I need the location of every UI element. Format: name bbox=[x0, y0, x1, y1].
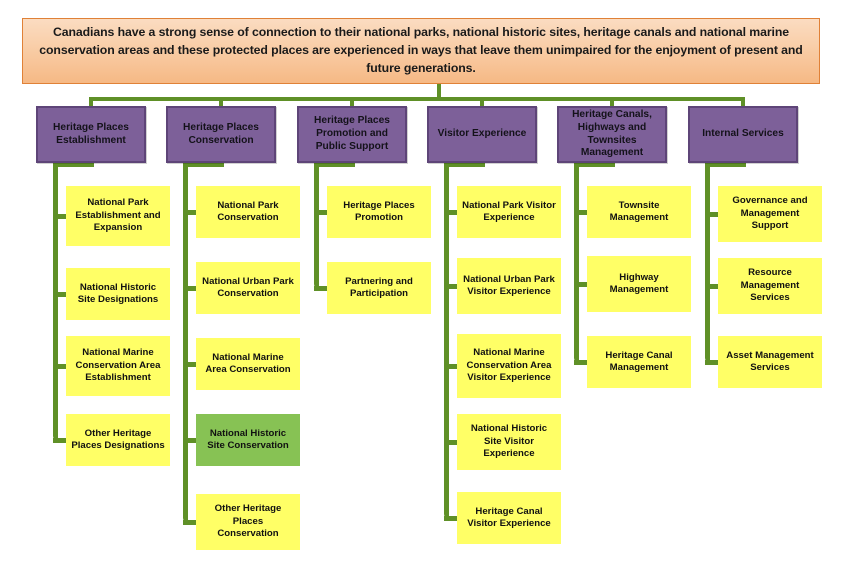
program-box-label: Heritage Places Promotion and Public Sup… bbox=[304, 115, 400, 153]
connector-stub-internal-services-2 bbox=[705, 360, 718, 365]
program-box-heritage-places-establishment[interactable]: Heritage Places Establishment bbox=[36, 106, 146, 163]
program-box-label: Heritage Canals, Highways and Townsites … bbox=[564, 109, 660, 160]
connector-stub-heritage-places-establishment-3 bbox=[53, 438, 66, 443]
connector-spine-head-heritage-places-promotion-and-public-support bbox=[314, 163, 355, 167]
connector-stub-visitor-experience-4 bbox=[444, 516, 457, 521]
connector-horizontal-bus bbox=[91, 97, 743, 101]
program-box-internal-services[interactable]: Internal Services bbox=[688, 106, 798, 163]
sub-activity-label: Heritage Canal Management bbox=[592, 350, 686, 375]
sub-activity-box[interactable]: Other Heritage Places Designations bbox=[66, 414, 170, 466]
sub-activity-label: Other Heritage Places Conservation bbox=[201, 503, 295, 540]
connector-stub-heritage-places-establishment-2 bbox=[53, 364, 66, 369]
vision-statement-banner: Canadians have a strong sense of connect… bbox=[22, 18, 820, 84]
sub-activity-label: Partnering and Participation bbox=[332, 276, 426, 301]
program-box-visitor-experience[interactable]: Visitor Experience bbox=[427, 106, 537, 163]
connector-stub-internal-services-0 bbox=[705, 212, 718, 217]
sub-activity-label: Highway Management bbox=[592, 272, 686, 297]
sub-activity-box[interactable]: Other Heritage Places Conservation bbox=[196, 494, 300, 550]
connector-bus-to-heritage-places-establishment bbox=[89, 97, 93, 106]
sub-activity-label: National Urban Park Conservation bbox=[201, 276, 295, 301]
sub-activity-box-highlighted[interactable]: National Historic Site Conservation bbox=[196, 414, 300, 466]
connector-stub-visitor-experience-3 bbox=[444, 440, 457, 445]
program-box-label: Visitor Experience bbox=[438, 128, 527, 141]
connector-spine-head-heritage-places-conservation bbox=[183, 163, 224, 167]
connector-spine-visitor-experience bbox=[444, 163, 449, 518]
sub-activity-box[interactable]: National Park Visitor Experience bbox=[457, 186, 561, 238]
connector-bus-to-visitor-experience bbox=[480, 97, 484, 106]
connector-spine-heritage-canals-highways-and-townsites-management bbox=[574, 163, 579, 362]
connector-bus-to-heritage-canals-highways-and-townsites-management bbox=[610, 97, 614, 106]
sub-activity-box[interactable]: National Park Establishment and Expansio… bbox=[66, 186, 170, 246]
sub-activity-label: Heritage Canal Visitor Experience bbox=[462, 506, 556, 531]
connector-spine-head-visitor-experience bbox=[444, 163, 485, 167]
connector-stub-heritage-places-conservation-3 bbox=[183, 438, 196, 443]
connector-spine-heritage-places-conservation bbox=[183, 163, 188, 522]
connector-spine-head-internal-services bbox=[705, 163, 746, 167]
connector-bus-to-heritage-places-promotion-and-public-support bbox=[350, 97, 354, 106]
connector-stub-visitor-experience-1 bbox=[444, 284, 457, 289]
sub-activity-box[interactable]: National Urban Park Visitor Experience bbox=[457, 258, 561, 314]
connector-stub-heritage-places-establishment-1 bbox=[53, 292, 66, 297]
connector-bus-to-heritage-places-conservation bbox=[219, 97, 223, 106]
connector-stub-heritage-places-promotion-and-public-support-1 bbox=[314, 286, 327, 291]
sub-activity-box[interactable]: Partnering and Participation bbox=[327, 262, 431, 314]
connector-stub-heritage-places-promotion-and-public-support-0 bbox=[314, 210, 327, 215]
sub-activity-box[interactable]: Governance and Management Support bbox=[718, 186, 822, 242]
sub-activity-label: Heritage Places Promotion bbox=[332, 200, 426, 225]
vision-statement-text: Canadians have a strong sense of connect… bbox=[37, 24, 805, 77]
sub-activity-label: Resource Management Services bbox=[723, 267, 817, 304]
sub-activity-label: National Historic Site Conservation bbox=[201, 428, 295, 453]
connector-stub-heritage-places-conservation-0 bbox=[183, 210, 196, 215]
sub-activity-label: Townsite Management bbox=[592, 200, 686, 225]
connector-stub-visitor-experience-0 bbox=[444, 210, 457, 215]
connector-stub-heritage-places-conservation-2 bbox=[183, 362, 196, 367]
sub-activity-label: National Park Establishment and Expansio… bbox=[71, 197, 165, 234]
program-box-heritage-places-conservation[interactable]: Heritage Places Conservation bbox=[166, 106, 276, 163]
sub-activity-box[interactable]: Heritage Canal Visitor Experience bbox=[457, 492, 561, 544]
sub-activity-label: National Marine Conservation Area Establ… bbox=[71, 347, 165, 384]
connector-stub-heritage-canals-highways-and-townsites-management-0 bbox=[574, 210, 587, 215]
connector-stub-heritage-places-establishment-0 bbox=[53, 214, 66, 219]
program-box-label: Heritage Places Establishment bbox=[43, 122, 139, 148]
sub-activity-label: National Marine Area Conservation bbox=[201, 352, 295, 377]
connector-bus-to-internal-services bbox=[741, 97, 745, 106]
connector-spine-head-heritage-places-establishment bbox=[53, 163, 94, 167]
connector-stub-heritage-places-conservation-1 bbox=[183, 286, 196, 291]
connector-stub-heritage-canals-highways-and-townsites-management-1 bbox=[574, 282, 587, 287]
sub-activity-box[interactable]: Heritage Canal Management bbox=[587, 336, 691, 388]
sub-activity-box[interactable]: Resource Management Services bbox=[718, 258, 822, 314]
connector-stub-internal-services-1 bbox=[705, 284, 718, 289]
sub-activity-label: Other Heritage Places Designations bbox=[71, 428, 165, 453]
sub-activity-label: National Urban Park Visitor Experience bbox=[462, 274, 556, 299]
sub-activity-label: Asset Management Services bbox=[723, 350, 817, 375]
connector-spine-head-heritage-canals-highways-and-townsites-management bbox=[574, 163, 615, 167]
sub-activity-label: National Park Conservation bbox=[201, 200, 295, 225]
sub-activity-box[interactable]: Heritage Places Promotion bbox=[327, 186, 431, 238]
sub-activity-label: National Marine Conservation Area Visito… bbox=[462, 347, 556, 384]
sub-activity-box[interactable]: National Historic Site Visitor Experienc… bbox=[457, 414, 561, 470]
connector-stub-heritage-canals-highways-and-townsites-management-2 bbox=[574, 360, 587, 365]
sub-activity-label: National Historic Site Visitor Experienc… bbox=[462, 423, 556, 460]
sub-activity-box[interactable]: National Marine Conservation Area Visito… bbox=[457, 334, 561, 398]
sub-activity-box[interactable]: National Marine Area Conservation bbox=[196, 338, 300, 390]
sub-activity-box[interactable]: National Marine Conservation Area Establ… bbox=[66, 336, 170, 396]
connector-spine-heritage-places-promotion-and-public-support bbox=[314, 163, 319, 288]
sub-activity-box[interactable]: Asset Management Services bbox=[718, 336, 822, 388]
program-box-heritage-places-promotion-and-public-support[interactable]: Heritage Places Promotion and Public Sup… bbox=[297, 106, 407, 163]
program-box-label: Heritage Places Conservation bbox=[173, 122, 269, 148]
sub-activity-box[interactable]: Highway Management bbox=[587, 256, 691, 312]
connector-spine-internal-services bbox=[705, 163, 710, 362]
sub-activity-label: National Park Visitor Experience bbox=[462, 200, 556, 225]
org-chart-canvas: Canadians have a strong sense of connect… bbox=[0, 0, 843, 577]
sub-activity-box[interactable]: National Historic Site Designations bbox=[66, 268, 170, 320]
connector-spine-heritage-places-establishment bbox=[53, 163, 58, 440]
sub-activity-box[interactable]: Townsite Management bbox=[587, 186, 691, 238]
sub-activity-box[interactable]: National Urban Park Conservation bbox=[196, 262, 300, 314]
program-box-heritage-canals-highways-and-townsites-management[interactable]: Heritage Canals, Highways and Townsites … bbox=[557, 106, 667, 163]
sub-activity-label: Governance and Management Support bbox=[723, 195, 817, 232]
connector-stub-visitor-experience-2 bbox=[444, 364, 457, 369]
connector-stub-heritage-places-conservation-4 bbox=[183, 520, 196, 525]
program-box-label: Internal Services bbox=[702, 128, 784, 141]
sub-activity-label: National Historic Site Designations bbox=[71, 282, 165, 307]
sub-activity-box[interactable]: National Park Conservation bbox=[196, 186, 300, 238]
